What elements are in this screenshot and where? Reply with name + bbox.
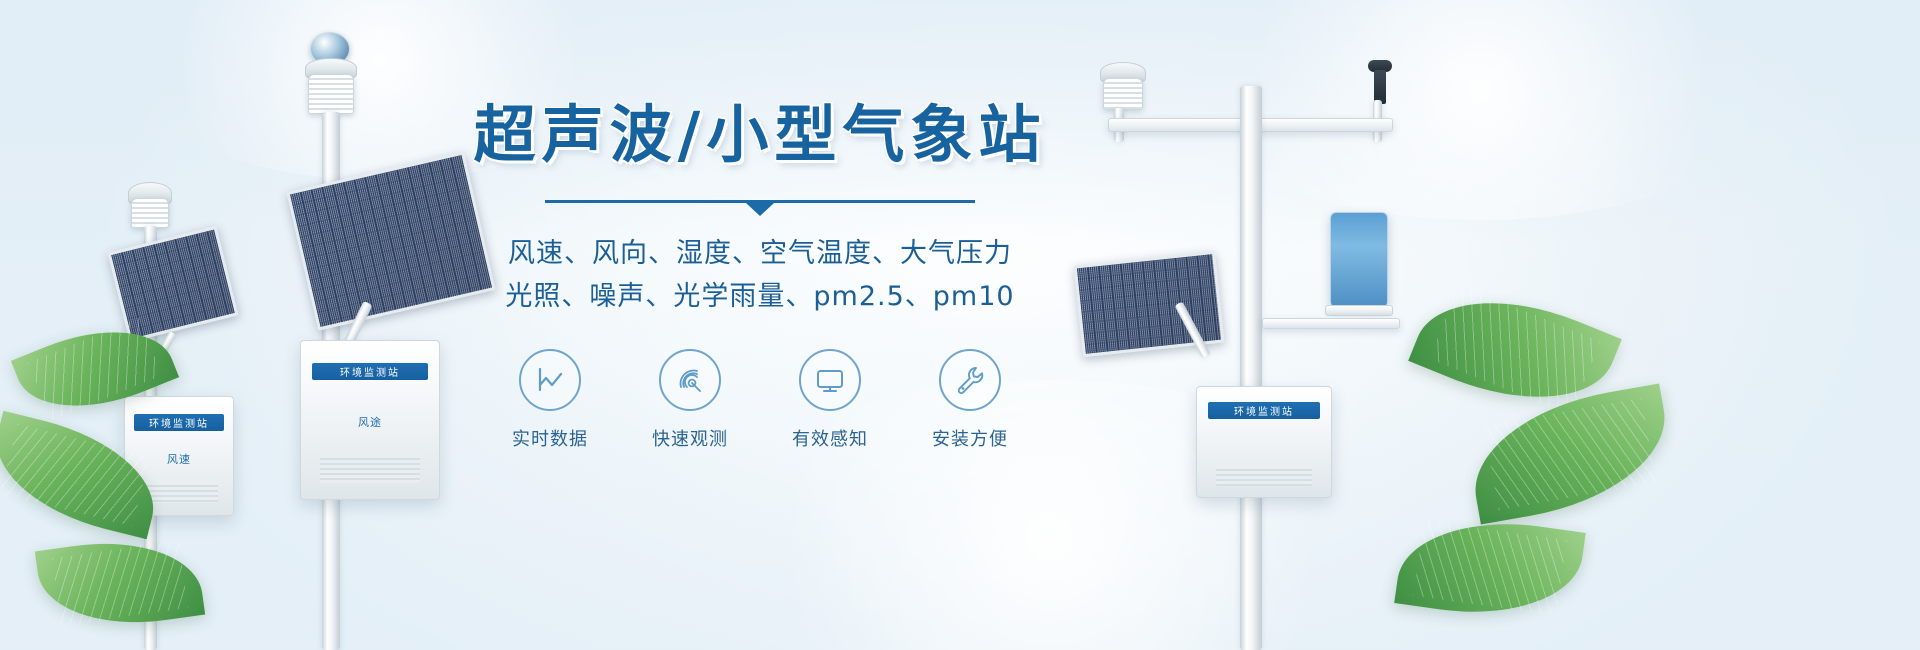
feature-icon-circle bbox=[519, 349, 581, 411]
leaf-decoration bbox=[1462, 383, 1678, 524]
feature-item-easy-installation[interactable]: 安装方便 bbox=[924, 349, 1016, 451]
leaf-decoration bbox=[1394, 508, 1586, 628]
subtitle-line-2: 光照、噪声、光学雨量、pm2.5、pm10 bbox=[440, 275, 1080, 319]
divider-arrow-icon bbox=[746, 203, 774, 216]
rain-gauge bbox=[1330, 212, 1388, 308]
right-cabinet-strip: 环境监测站 bbox=[1208, 402, 1321, 419]
feature-label: 有效感知 bbox=[792, 425, 868, 451]
feature-item-realtime-data[interactable]: 实时数据 bbox=[504, 349, 596, 451]
divider bbox=[545, 200, 975, 214]
right-cabinet-vent bbox=[1216, 466, 1313, 486]
feature-icon-circle bbox=[939, 349, 1001, 411]
center-cabinet-strip: 环境监测站 bbox=[312, 363, 428, 380]
page-title: 超声波/小型气象站 bbox=[440, 96, 1080, 174]
feature-icon-circle bbox=[799, 349, 861, 411]
feature-list: 实时数据 快速观测 bbox=[440, 349, 1080, 451]
feature-label: 安装方便 bbox=[932, 425, 1008, 451]
center-cabinet-vent bbox=[320, 455, 419, 483]
feature-label: 快速观测 bbox=[652, 425, 728, 451]
leaf-decoration bbox=[35, 529, 205, 636]
cloud-decoration bbox=[1180, 0, 1780, 220]
feature-item-effective-sensing[interactable]: 有效感知 bbox=[784, 349, 876, 451]
wrench-icon bbox=[954, 364, 986, 396]
radar-signal-icon bbox=[674, 364, 706, 396]
subtitle-line-1: 风速、风向、湿度、空气温度、大气压力 bbox=[440, 232, 1080, 276]
center-cabinet: 环境监测站 风途 bbox=[300, 340, 440, 500]
feature-label: 实时数据 bbox=[512, 425, 588, 451]
right-cabinet: 环境监测站 bbox=[1196, 386, 1332, 498]
monitor-icon bbox=[814, 364, 846, 396]
banner-content: 超声波/小型气象站 风速、风向、湿度、空气温度、大气压力 光照、噪声、光学雨量、… bbox=[440, 96, 1080, 451]
product-banner: 环境监测站 风速 环境监测站 风途 环境监测站 bbox=[0, 0, 1920, 650]
line-chart-icon bbox=[534, 364, 566, 396]
feature-item-fast-observation[interactable]: 快速观测 bbox=[644, 349, 736, 451]
left-cabinet-strip: 环境监测站 bbox=[134, 414, 225, 431]
feature-icon-circle bbox=[659, 349, 721, 411]
center-cabinet-logo: 风途 bbox=[301, 414, 439, 430]
